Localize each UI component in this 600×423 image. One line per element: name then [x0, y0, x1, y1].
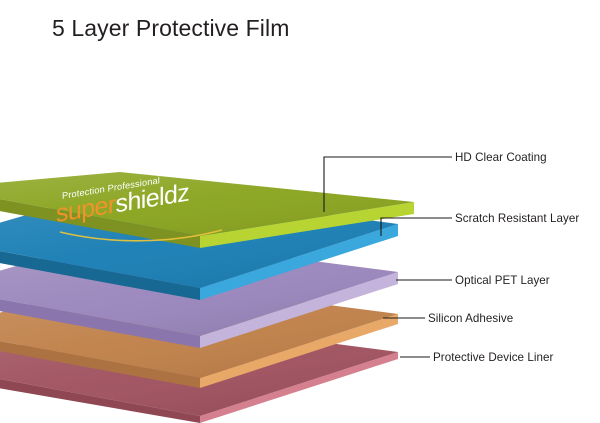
- callout-label-hd-clear-coating: HD Clear Coating: [455, 151, 547, 164]
- callout-label-optical-pet: Optical PET Layer: [455, 274, 550, 287]
- callout-label-protective-liner: Protective Device Liner: [433, 351, 553, 364]
- callout-label-silicon-adhesive: Silicon Adhesive: [428, 312, 513, 325]
- callout-label-scratch-resistant: Scratch Resistant Layer: [455, 212, 579, 225]
- diagram-canvas: 5 Layer Protective Film: [0, 0, 600, 423]
